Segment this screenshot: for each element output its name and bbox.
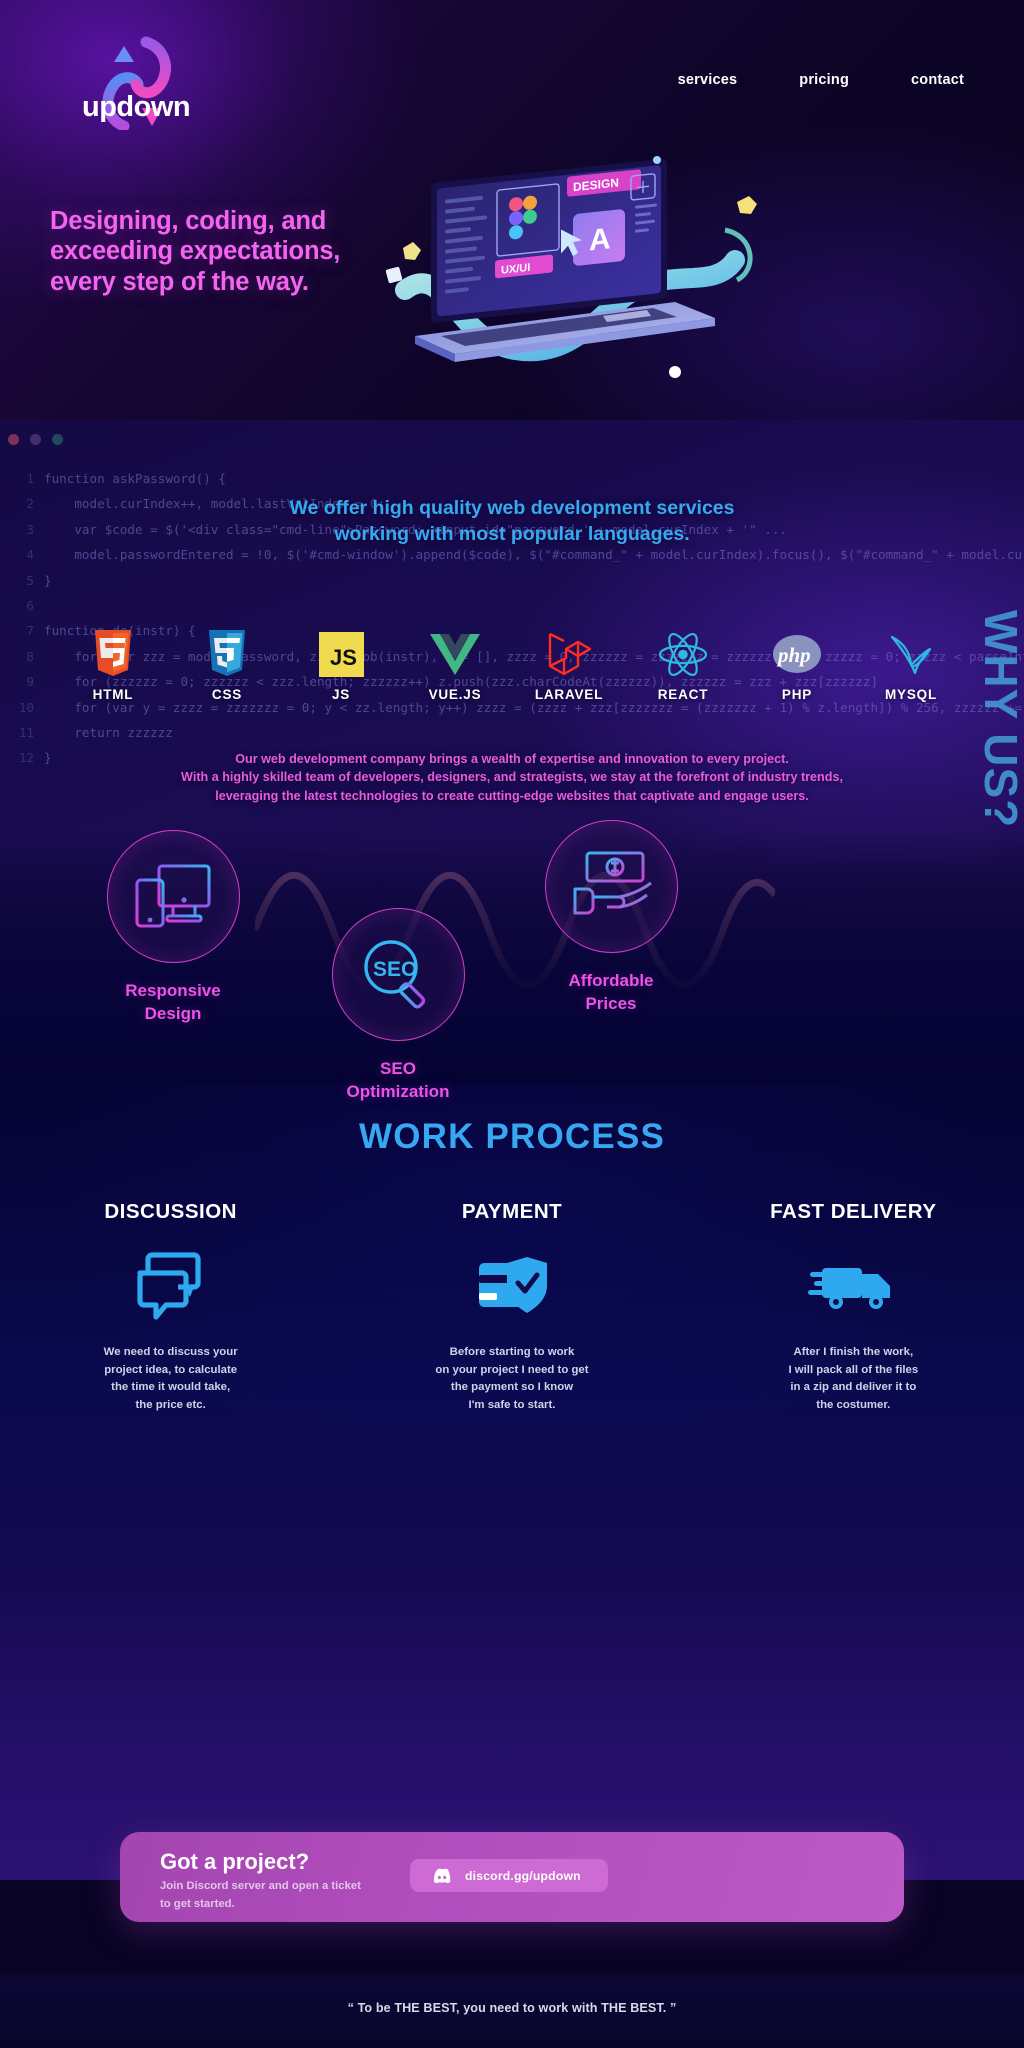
- feature-caption-responsive: Responsive Design: [80, 979, 266, 1026]
- headline-line-1: Designing, coding, and: [50, 207, 326, 235]
- tech-section-paragraph: Our web development company brings a wea…: [0, 750, 1024, 805]
- window-minimize-dot[interactable]: [30, 434, 41, 445]
- tech-item-react[interactable]: REACT: [644, 630, 722, 702]
- code-line: 5}: [0, 568, 1024, 593]
- tech-label-js: JS: [302, 687, 380, 702]
- code-line-text: model.passwordEntered = !0, $('#cmd-wind…: [44, 547, 1024, 562]
- svg-text:JS: JS: [330, 645, 357, 670]
- caption-line: Affordable: [569, 971, 654, 990]
- tech-item-mysql[interactable]: MYSQL: [872, 630, 950, 702]
- headline-line-3: every step of the way.: [50, 268, 309, 296]
- code-line-number: 5: [0, 568, 34, 593]
- discord-button-label: discord.gg/updown: [465, 1869, 581, 1883]
- react-icon: [644, 630, 722, 678]
- svg-text:php: php: [776, 643, 811, 667]
- feature-caption-seo: SEO Optimization: [305, 1057, 491, 1104]
- css3-icon: [188, 630, 266, 678]
- window-maximize-dot[interactable]: [52, 434, 63, 445]
- code-line-text: function askPassword() {: [44, 471, 226, 486]
- code-line-text: return zzzzzz: [44, 725, 173, 740]
- tech-item-css[interactable]: CSS: [188, 630, 266, 702]
- responsive-devices-icon: [131, 858, 215, 936]
- nav-links: services pricing contact: [678, 72, 964, 88]
- code-line: 6: [0, 593, 1024, 618]
- hero-headline: Designing, coding, and exceeding expecta…: [50, 206, 340, 297]
- cta-sub-line: Join Discord server and open a ticket: [160, 1880, 361, 1892]
- svg-text:SEO: SEO: [373, 958, 417, 981]
- cta-subtitle: Join Discord server and open a ticket to…: [160, 1878, 450, 1913]
- desc-line: the price etc.: [136, 1399, 206, 1411]
- code-line: 11 return zzzzzz: [0, 720, 1024, 745]
- brand-logo[interactable]: updown: [78, 36, 278, 132]
- laptop-design-illustration-icon: DESIGN A UX/UI: [385, 140, 765, 390]
- headline-line-2: exceeding expectations,: [50, 237, 340, 265]
- caption-line: Responsive: [125, 981, 220, 1000]
- tech-label-html: HTML: [74, 687, 152, 702]
- tech-label-php: PHP: [758, 687, 836, 702]
- why-us-vertical-label: WHY US?: [974, 610, 1024, 828]
- html5-icon: [74, 630, 152, 678]
- tech-item-vuejs[interactable]: VUE.JS: [416, 630, 494, 702]
- tech-item-html[interactable]: HTML: [74, 630, 152, 702]
- vuejs-icon: [416, 630, 494, 678]
- tech-logo-row: HTML CSS: [0, 630, 1024, 702]
- tech-label-mysql: MYSQL: [872, 687, 950, 702]
- nav-item-services[interactable]: services: [678, 72, 738, 88]
- paragraph-line-1: Our web development company brings a wea…: [235, 752, 789, 766]
- tech-label-css: CSS: [188, 687, 266, 702]
- discord-invite-button[interactable]: discord.gg/updown: [410, 1859, 608, 1892]
- feature-ring: [107, 830, 240, 963]
- feature-responsive-design[interactable]: Responsive Design: [80, 830, 266, 1026]
- laravel-icon: [530, 630, 608, 678]
- feature-caption-affordable: Affordable Prices: [518, 969, 704, 1016]
- caption-line: SEO: [380, 1059, 416, 1078]
- php-icon: php: [758, 630, 836, 678]
- code-line-number: 6: [0, 593, 34, 618]
- money-in-hand-icon: [567, 849, 655, 925]
- cta-sub-line: to get started.: [160, 1898, 235, 1910]
- tech-heading-line-1: We offer high quality web development se…: [289, 497, 734, 519]
- feature-ring: SEO: [332, 908, 465, 1041]
- desc-line: the costumer.: [816, 1399, 890, 1411]
- tech-label-laravel: LARAVEL: [530, 687, 608, 702]
- tech-item-php[interactable]: php PHP: [758, 630, 836, 702]
- brand-name: updown: [82, 91, 190, 124]
- tech-item-js[interactable]: JS JS: [302, 630, 380, 702]
- cta-banner: Got a project? Join Discord server and o…: [120, 1832, 904, 1922]
- code-line: 1function askPassword() {: [0, 466, 1024, 491]
- caption-line: Prices: [585, 994, 636, 1013]
- nav-item-contact[interactable]: contact: [911, 72, 964, 88]
- svg-text:A: A: [589, 222, 611, 257]
- tech-section-heading: We offer high quality web development se…: [0, 496, 1024, 547]
- code-line-number: 1: [0, 466, 34, 491]
- feature-seo-optimization[interactable]: SEO SEO Optimization: [305, 908, 491, 1104]
- desc-line: I'm safe to start.: [469, 1399, 556, 1411]
- tech-heading-line-2: working with most popular languages.: [334, 523, 689, 545]
- paragraph-line-2: With a highly skilled team of developers…: [181, 770, 843, 784]
- feature-affordable-prices[interactable]: Affordable Prices: [518, 820, 704, 1016]
- feature-ring: [545, 820, 678, 953]
- seo-magnifier-icon: SEO: [358, 935, 438, 1015]
- javascript-icon: JS: [302, 630, 380, 678]
- cta-title: Got a project?: [160, 1849, 309, 1875]
- code-line-number: 11: [0, 720, 34, 745]
- code-line-text: }: [44, 573, 52, 588]
- tech-label-vuejs: VUE.JS: [416, 687, 494, 702]
- features-section: Responsive Design SEO SEO: [0, 1000, 1024, 1390]
- mysql-dolphin-icon: [872, 630, 950, 678]
- caption-line: Design: [145, 1004, 202, 1023]
- window-close-dot[interactable]: [8, 434, 19, 445]
- footer-quote: “ To be THE BEST, you need to work with …: [0, 2001, 1024, 2015]
- tech-item-laravel[interactable]: LARAVEL: [530, 630, 608, 702]
- hero-section: updown services pricing contact Designin…: [0, 0, 1024, 420]
- paragraph-line-3: leveraging the latest technologies to cr…: [215, 789, 808, 803]
- nav-item-pricing[interactable]: pricing: [799, 72, 849, 88]
- tech-label-react: REACT: [644, 687, 722, 702]
- caption-line: Optimization: [347, 1082, 450, 1101]
- discord-icon: [432, 1868, 452, 1883]
- landing-page: updown services pricing contact Designin…: [0, 0, 1024, 2048]
- window-controls: [8, 434, 63, 445]
